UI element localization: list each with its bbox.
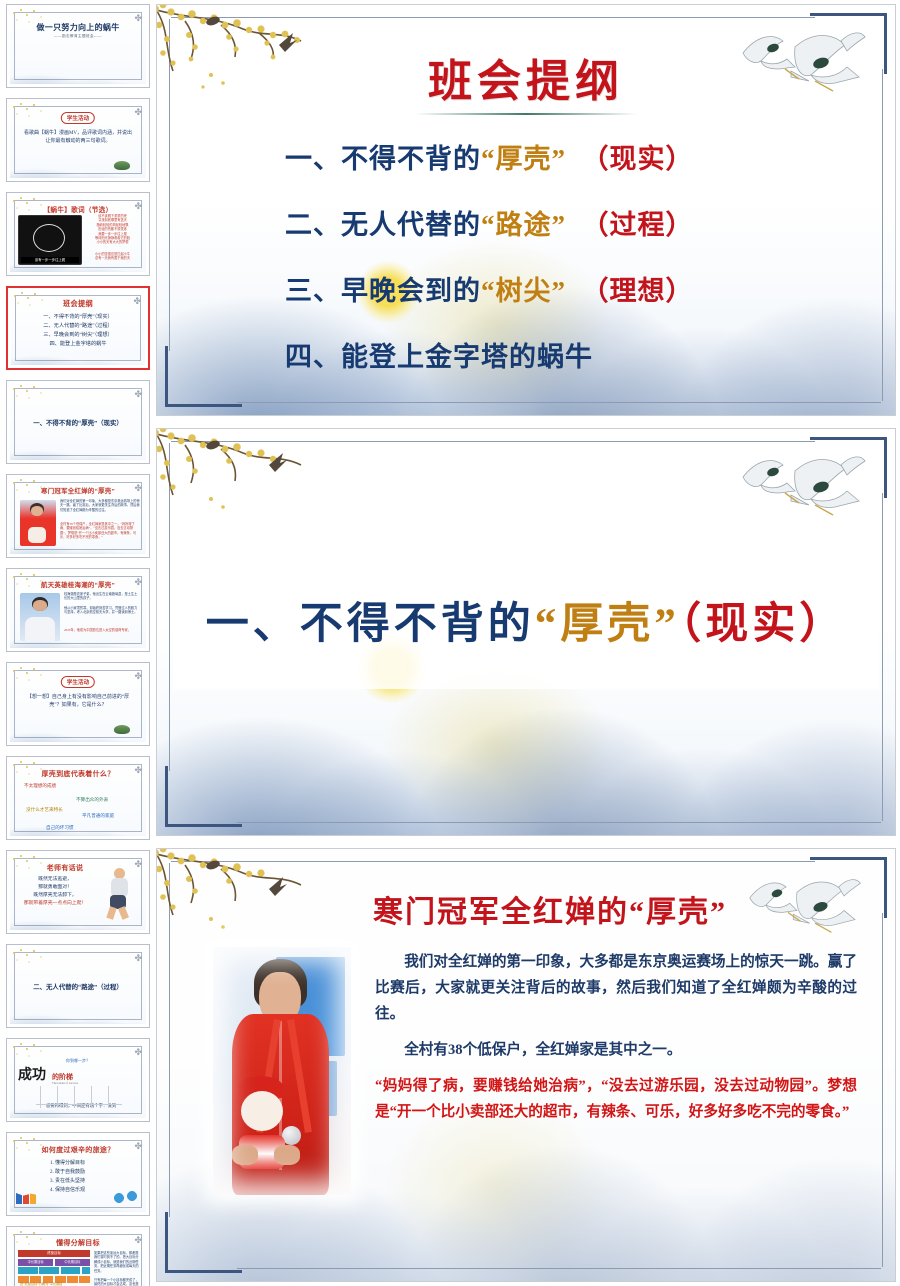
flying-crane-icon: ✤: [116, 951, 142, 965]
slide-outline[interactable]: 班会提纲 一、不得不背的“厚壳” （现实） 二、无人代替的“路途” （过程） 三…: [156, 4, 896, 416]
slide-thumbnail-11[interactable]: ✤ 二、无人代替的“路途”（过程）: [6, 944, 150, 1028]
lyrics-caption: 该有一步一步往上爬: [21, 257, 79, 263]
outline-item-3-lead: 三、早晚会到的: [285, 276, 481, 306]
frame-line-bottom: [237, 1268, 881, 1269]
outline-item-4-lead: 四、能登上金字塔的蜗牛: [285, 342, 593, 372]
thumb-title: 一、不得不背的“厚壳”（现实）: [18, 418, 138, 427]
table-caption: 把“终极目标”分解为“中长期目标”，再细化为“短期目标”，最后确定为“可立刻着手…: [20, 1282, 66, 1286]
story-paragraph-1: 我们对全红婵的第一印象，大多都是东京奥运赛场上的惊天一跳。赢了比赛后，大家就更关…: [375, 949, 857, 1027]
outline-item-3[interactable]: 三、早晚会到的“树尖” （理想）: [285, 269, 855, 308]
list-item: 3. 贵在低头坚持: [50, 1177, 132, 1186]
outline-item-2[interactable]: 二、无人代替的“路途” （过程）: [285, 203, 855, 242]
slide-thumbnail-9[interactable]: ✤ 厚壳到底代表着什么？ 不太理想的成绩 不算出众的外表 没什么才艺来特长 平凡…: [6, 756, 150, 840]
thumb-title: 厚壳到底代表着什么？: [10, 769, 146, 779]
slide-thumbnail-panel[interactable]: ✤ 做一只努力向上的蜗牛 ——励志教育主题班会—— ✤ 学生活动 看歌曲【蜗牛】…: [0, 0, 156, 1286]
story-text: 我们对全红婵的第一印象，大多都是东京奥运赛场上的惊天一跳。赢了比赛后，大家就更关…: [60, 499, 140, 512]
outline-item-2-keyword: “路途”: [481, 210, 566, 240]
plum-branch-icon: [156, 428, 381, 535]
table-row: 中长期目标: [55, 1259, 90, 1266]
frame-corner-top-right: [810, 437, 887, 498]
athlete-photo: [213, 947, 351, 1195]
thumb-title: 班会提纲: [11, 299, 145, 309]
goal-table: 终极目标 中长期目标 中长期目标: [18, 1250, 90, 1283]
flying-crane-icon: ✤: [116, 1045, 142, 1059]
outline-item: 二、无人代替的“路途”（过程）: [21, 322, 135, 331]
title-divider: [415, 113, 637, 115]
thumb-body: 看歌曲【蜗牛】漫画MV，品评歌词内涵，并说出让你最有触动的两三句歌词。: [22, 130, 134, 146]
frame-line-top: [171, 441, 815, 442]
teacher-line: 那就勇敢面对！: [14, 884, 96, 892]
table-row: 终极目标: [18, 1250, 90, 1257]
lyrics-block-1: 该不该搁下重重的壳 寻找到底哪里有蓝天 随着轻轻的风轻轻地飘 历经的伤都不感觉疼…: [84, 214, 141, 245]
scatter-word: 没什么才艺来特长: [26, 808, 63, 812]
snail-icon: [114, 161, 130, 170]
frame-corner-bottom-left: [165, 346, 242, 407]
flying-crane-icon: ✤: [116, 105, 142, 119]
slide-thumbnail-3[interactable]: ✤ 【蜗牛】歌词（节选） 该有一步一步往上爬 该不该搁下重重的壳 寻找到底哪里有…: [6, 192, 150, 276]
presentation-editor: ✤ 做一只努力向上的蜗牛 ——励志教育主题班会—— ✤ 学生活动 看歌曲【蜗牛】…: [0, 0, 900, 1286]
outline-item-1-keyword: “厚壳”: [481, 144, 566, 174]
thumb-title: 航天英雄桂海潮的“厚壳”: [10, 580, 146, 589]
frame-line-top: [171, 861, 815, 862]
frame-corner-bottom-left: [165, 766, 242, 827]
slide-thumbnail-4[interactable]: ✤ 班会提纲 一、不得不背的“厚壳”（现实） 二、无人代替的“路途”（过程） 三…: [6, 286, 150, 370]
flying-crane-icon: ✤: [116, 387, 142, 401]
list-item: 2. 敢于自我鼓励: [50, 1168, 132, 1177]
thumb-title: 二、无人代替的“路途”（过程）: [18, 982, 138, 991]
runner-icon: [102, 868, 136, 920]
table-note: 只有把每一个小目标都完成了，最终的大目标才会达成，这也是分解目标的意义所在。: [94, 1278, 140, 1286]
snail-icon: [114, 725, 130, 734]
section-title-tag: （现实）: [680, 601, 847, 648]
flying-crane-icon: ✤: [116, 669, 142, 683]
outline-item-1-tag: （现实）: [582, 144, 694, 174]
plum-branch-icon: [10, 948, 60, 972]
scatter-word: 不算出众的外表: [76, 798, 108, 802]
fists-icon: [110, 1186, 140, 1206]
story-paragraph-2: 全村有38个低保户，全红婵家是其中之一。: [375, 1037, 857, 1063]
story-text-red: 全村有38个低保户，全红婵家是其中之一。“妈妈得了病，要赚钱给她治病”，“没去过…: [60, 522, 140, 540]
section-title-keyword: “厚壳”: [535, 601, 680, 648]
outline-item-4[interactable]: 四、能登上金字塔的蜗牛: [285, 335, 855, 374]
slide-editor-canvas: 班会提纲 一、不得不背的“厚壳” （现实） 二、无人代替的“路途” （过程） 三…: [156, 0, 900, 1286]
thumb-title: 如何度过艰辛的旅途？: [10, 1145, 146, 1155]
story-text: 他从小家境贫寒，却始终刻苦学习，凭借过人的毅力与坚持，考入北京航空航天大学，并一…: [64, 606, 140, 615]
slide-thumbnail-7[interactable]: ✤ 航天英雄桂海潮的“厚壳” 桂海潮是农家子弟，他出生在云南施甸县，是土生土长的…: [6, 568, 150, 652]
frame-line-right: [882, 493, 883, 821]
slide-section-header[interactable]: 一、不得不背的“厚壳”（现实）: [156, 428, 896, 836]
slide-thumbnail-8[interactable]: ✤ 学生活动 【想一想】自己身上有没有影响自己前进的“厚壳”？如果有，它是什么？: [6, 662, 150, 746]
slide-thumbnail-12[interactable]: ✤ 成功 的阶梯 The ladder of success 你到哪一步？ 想要…: [6, 1038, 150, 1122]
plum-branch-icon: [10, 384, 60, 408]
slide-thumbnail-10[interactable]: ✤ 老师有话说 既然无法逃避， 那就勇敢面对！ 既然厚壳无法卸下， 那就带着厚壳…: [6, 850, 150, 934]
ladder-steps-icon: [36, 1086, 122, 1108]
thumb-title: 【蜗牛】歌词（节选）: [10, 204, 146, 214]
outline-item-2-tag: （过程）: [582, 210, 694, 240]
outline-item: 一、不得不背的“厚壳”（现实）: [21, 313, 135, 322]
outline-item: 四、能登上金字塔的蜗牛: [21, 340, 135, 349]
outline-item-3-keyword: “树尖”: [481, 276, 566, 306]
story-paragraph-2-quote: “妈妈得了病，要赚钱给她治病”，“没去过游乐园，没去过动物园”。梦想是“开一个比…: [375, 1073, 857, 1125]
activity-badge: 学生活动: [61, 112, 95, 124]
frame-corner-bottom-left: [165, 1212, 242, 1273]
plum-branch-icon: [10, 1042, 60, 1066]
astronaut-photo: [20, 593, 60, 641]
table-row: 中长期目标: [18, 1259, 53, 1266]
frame-line-right: [882, 69, 883, 401]
slide-story[interactable]: 寒门冠军全红婵的“厚壳” 我们对全红: [156, 848, 896, 1282]
thumb-title: 做一只努力向上的蜗牛: [10, 22, 146, 33]
teacher-line: 既然厚壳无法卸下，: [14, 892, 96, 900]
thumb-title: 寒门冠军全红婵的“厚壳”: [10, 486, 146, 495]
ladder-subtitle-en: The ladder of success: [52, 1081, 78, 1085]
athlete-photo: [20, 500, 56, 546]
outline-item-2-lead: 二、无人代替的: [285, 210, 481, 240]
teacher-line: 既然无法逃避，: [14, 876, 96, 884]
slide-thumbnail-6[interactable]: ✤ 寒门冠军全红婵的“厚壳” 我们对全红婵的第一印象，大多都是东京奥运赛场上的惊…: [6, 474, 150, 558]
outline-item-1-lead: 一、不得不背的: [285, 144, 481, 174]
plum-branch-icon: [10, 102, 60, 126]
frame-line-right: [882, 913, 883, 1267]
lyrics-video-thumb: 该有一步一步往上爬: [18, 215, 82, 265]
list-item: 1. 懂得分解目标: [50, 1159, 132, 1168]
scatter-word: 不太理想的成绩: [24, 784, 56, 788]
outline-list: 一、不得不背的“厚壳” （现实） 二、无人代替的“路途” （过程） 三、早晚会到…: [285, 137, 855, 401]
frame-line-left: [169, 863, 170, 1217]
slide-thumbnail-5[interactable]: ✤ 一、不得不背的“厚壳”（现实）: [6, 380, 150, 464]
activity-badge: 学生活动: [61, 676, 95, 688]
frame-line-top: [171, 17, 815, 18]
outline-item-3-tag: （理想）: [582, 276, 694, 306]
section-title: 一、不得不背的“厚壳”（现实）: [157, 589, 895, 651]
scatter-word: 自己的坏习惯: [46, 826, 74, 830]
thumb-title: 懂得分解目标: [10, 1238, 146, 1248]
frame-line-bottom: [237, 822, 881, 823]
slide-thumbnail-13[interactable]: ✤ 如何度过艰辛的旅途？ 1. 懂得分解目标 2. 敢于自我鼓励 3. 贵在低头…: [6, 1132, 150, 1216]
slide-thumbnail-1[interactable]: ✤ 做一只努力向上的蜗牛 ——励志教育主题班会——: [6, 4, 150, 88]
story-title: 寒门冠军全红婵的“厚壳”: [227, 887, 873, 931]
pencils-icon: [16, 1182, 42, 1206]
slide-thumbnail-2[interactable]: ✤ 学生活动 看歌曲【蜗牛】漫画MV，品评歌词内涵，并说出让你最有触动的两三句歌…: [6, 98, 150, 182]
page-title: 班会提纲: [157, 45, 895, 109]
table-note: 如果把这些遥远大目标，那都是我们暂时到不了的。把大目标分解成小目标，就是我们的近…: [94, 1251, 140, 1273]
lyrics-block-2: 小小的坚强总是扛起小牛 总有一天我有属于我的天: [84, 252, 141, 261]
ladder-question: 你到哪一步？: [66, 1058, 90, 1064]
outline-item-1[interactable]: 一、不得不背的“厚壳” （现实）: [285, 137, 855, 176]
section-title-lead: 一、不得不背的: [206, 601, 535, 648]
flying-crane-icon: [735, 443, 875, 529]
story-body: 我们对全红婵的第一印象，大多都是东京奥运赛场上的惊天一跳。赢了比赛后，大家就更关…: [375, 949, 857, 1135]
plum-branch-icon: [10, 666, 60, 690]
ladder-title: 成功: [18, 1064, 46, 1084]
story-text-red: 2023年，他成为中国首位进入太空的载荷专家。: [64, 628, 140, 632]
frame-line-bottom: [237, 402, 881, 403]
teacher-line: 那就带着厚壳一点点向上爬！: [14, 900, 96, 908]
outline-item: 三、早晚会到的“树尖”（理想）: [21, 331, 135, 340]
thumb-subtitle: ——励志教育主题班会——: [10, 34, 146, 39]
slide-thumbnail-14[interactable]: ✤ 懂得分解目标 终极目标 中长期目标 中长期目标: [6, 1226, 150, 1286]
story-text: 桂海潮是农家子弟，他出生在云南施甸县，是土生土长的大山里的孩子。: [64, 592, 140, 601]
thumb-body: 【想一想】自己身上有没有影响自己前进的“厚壳”？如果有，它是什么？: [22, 694, 134, 710]
scatter-word: 平凡普通的家庭: [82, 814, 114, 818]
